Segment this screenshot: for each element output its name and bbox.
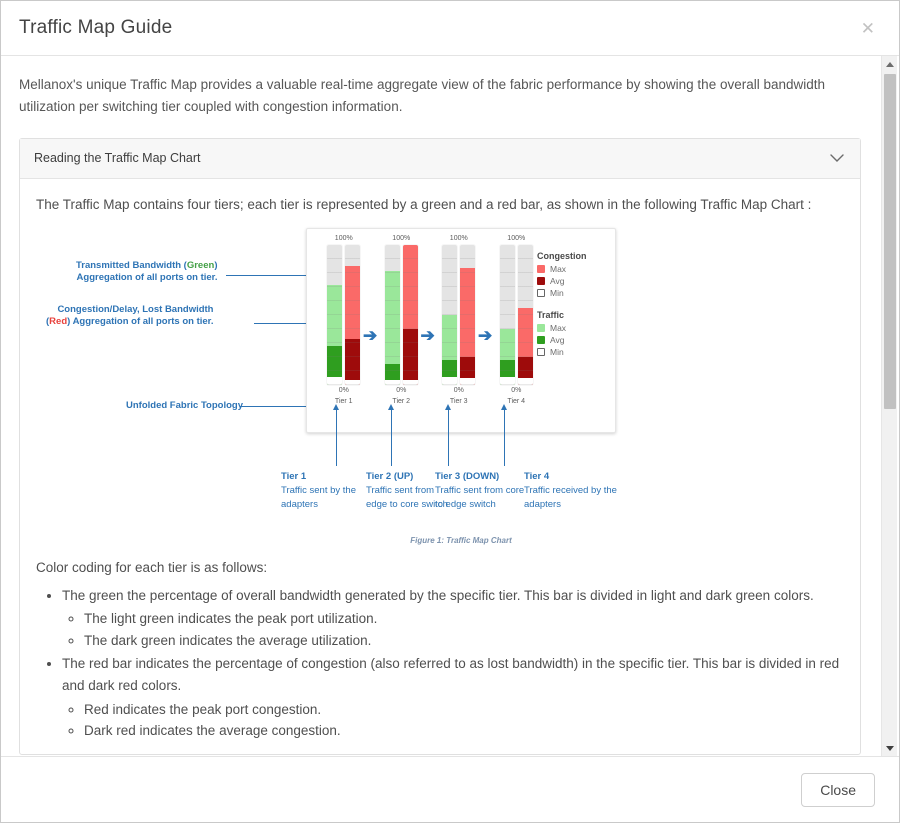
traffic-min-segment bbox=[385, 380, 400, 386]
scroll-down-arrow-icon[interactable] bbox=[882, 740, 898, 756]
chart-tiers: 100%0%Tier 1➔100%0%Tier 2➔100%0%Tier 3➔1… bbox=[315, 235, 545, 428]
traffic-map-chart: 100%0%Tier 1➔100%0%Tier 2➔100%0%Tier 3➔1… bbox=[306, 228, 616, 433]
scroll-up-arrow-icon[interactable] bbox=[882, 56, 898, 72]
legend-item-label: Avg bbox=[550, 276, 565, 286]
legend-item[interactable]: Min bbox=[537, 288, 605, 298]
chevron-down-icon[interactable] bbox=[830, 154, 844, 163]
accordion-header[interactable]: Reading the Traffic Map Chart bbox=[20, 139, 860, 179]
legend-item-label: Avg bbox=[550, 335, 565, 345]
color-coding-subitem: Dark red indicates the average congestio… bbox=[84, 720, 844, 742]
color-coding-item: The green the percentage of overall band… bbox=[62, 585, 844, 652]
congestion-avg-segment bbox=[345, 339, 360, 385]
tier-desc-title: Tier 4 bbox=[524, 470, 620, 484]
tier-category-label: Tier 4 bbox=[507, 398, 525, 407]
vertical-scrollbar[interactable] bbox=[881, 56, 897, 756]
tier-max-label: 100% bbox=[450, 235, 468, 244]
tier-bar-pair bbox=[500, 245, 533, 385]
legend-group-title: Congestion bbox=[537, 251, 605, 261]
legend-item-label: Max bbox=[550, 264, 566, 274]
close-x-icon[interactable]: ✕ bbox=[857, 18, 879, 39]
tier-desc-title: Tier 3 (DOWN) bbox=[435, 470, 527, 484]
traffic-map-figure: Transmitted Bandwidth (Green) Aggregatio… bbox=[36, 224, 844, 554]
traffic-min-segment bbox=[500, 377, 515, 385]
legend-swatch-icon bbox=[537, 348, 545, 356]
congestion-min-segment bbox=[460, 378, 475, 385]
congestion-bar[interactable] bbox=[518, 245, 533, 385]
callout-text-b: ) bbox=[214, 260, 217, 271]
dialog-header: Traffic Map Guide ✕ bbox=[1, 1, 899, 56]
traffic-bar[interactable] bbox=[442, 245, 457, 385]
tier-max-label: 100% bbox=[335, 235, 353, 244]
page-title: Traffic Map Guide bbox=[19, 17, 172, 39]
legend-group-title: Traffic bbox=[537, 310, 605, 320]
tier-desc-text: Traffic sent from core to edge switch bbox=[435, 485, 524, 510]
traffic-bar[interactable] bbox=[385, 245, 400, 385]
callout3-label: Unfolded Fabric Topology bbox=[126, 400, 243, 411]
tier-description-4: Tier 4 Traffic received by the adapters bbox=[524, 470, 620, 513]
tier-connector-arrow-4 bbox=[501, 404, 507, 410]
callout-green-word: Green bbox=[187, 260, 214, 271]
legend-swatch-icon bbox=[537, 277, 545, 285]
tier-description-3: Tier 3 (DOWN) Traffic sent from core to … bbox=[435, 470, 527, 513]
tier-desc-title: Tier 1 bbox=[281, 470, 365, 484]
legend-group-traffic: TrafficMaxAvgMin bbox=[537, 310, 605, 357]
tier-connector-2 bbox=[391, 410, 392, 466]
legend-group-congestion: CongestionMaxAvgMin bbox=[537, 251, 605, 298]
tier-min-label: 0% bbox=[511, 387, 521, 396]
scrollbar-thumb[interactable] bbox=[884, 74, 896, 409]
callout-text: Transmitted Bandwidth ( bbox=[76, 260, 187, 271]
legend-swatch-icon bbox=[537, 324, 545, 332]
traffic-map-guide-dialog: Traffic Map Guide ✕ Mellanox's unique Tr… bbox=[0, 0, 900, 823]
tier-connector-arrow-3 bbox=[445, 404, 451, 410]
accordion-title: Reading the Traffic Map Chart bbox=[34, 151, 201, 165]
callout-line2: Aggregation of all ports on tier. bbox=[77, 272, 218, 283]
dialog-body: Mellanox's unique Traffic Map provides a… bbox=[1, 56, 899, 756]
accordion-panel: Reading the Traffic Map Chart The Traffi… bbox=[19, 138, 861, 755]
callout-congestion-delay: Congestion/Delay, Lost Bandwidth (Red) A… bbox=[46, 304, 214, 330]
tier-min-label: 0% bbox=[339, 387, 349, 396]
tier-connector-4 bbox=[504, 410, 505, 466]
traffic-min-segment bbox=[442, 377, 457, 385]
tier-connector-arrow-1 bbox=[333, 404, 339, 410]
tier-connector-1 bbox=[336, 410, 337, 466]
legend-item[interactable]: Max bbox=[537, 264, 605, 274]
legend-item[interactable]: Min bbox=[537, 347, 605, 357]
callout-red-word: Red bbox=[49, 316, 67, 327]
figure-caption: Figure 1: Traffic Map Chart bbox=[306, 536, 616, 545]
congestion-min-segment bbox=[345, 380, 360, 386]
tier-bar-pair bbox=[442, 245, 475, 385]
tier-max-label: 100% bbox=[507, 235, 525, 244]
tier-desc-text: Traffic sent by the adapters bbox=[281, 485, 356, 510]
tier-min-label: 0% bbox=[396, 387, 406, 396]
congestion-avg-segment bbox=[403, 329, 418, 385]
color-coding-sublist: The light green indicates the peak port … bbox=[62, 608, 844, 651]
color-coding-subitem: The dark green indicates the average uti… bbox=[84, 630, 844, 652]
color-coding-subitem: The light green indicates the peak port … bbox=[84, 608, 844, 630]
tier-category-label: Tier 3 bbox=[450, 398, 468, 407]
chart-legend: CongestionMaxAvgMinTrafficMaxAvgMin bbox=[537, 251, 605, 359]
legend-item[interactable]: Avg bbox=[537, 335, 605, 345]
intro-paragraph: Mellanox's unique Traffic Map provides a… bbox=[19, 74, 854, 118]
dialog-footer: Close bbox=[1, 756, 899, 822]
legend-swatch-icon bbox=[537, 265, 545, 273]
legend-item-label: Max bbox=[550, 323, 566, 333]
color-coding-lead: Color coding for each tier is as follows… bbox=[36, 560, 844, 575]
congestion-min-segment bbox=[518, 378, 533, 385]
callout2-line1: Congestion/Delay, Lost Bandwidth bbox=[57, 304, 213, 315]
legend-item-label: Min bbox=[550, 288, 564, 298]
congestion-bar[interactable] bbox=[345, 245, 360, 385]
color-coding-list: The green the percentage of overall band… bbox=[36, 585, 844, 742]
traffic-min-segment bbox=[327, 377, 342, 385]
callout2-line2: ) Aggregation of all ports on tier. bbox=[67, 316, 213, 327]
tier-bar-pair bbox=[327, 245, 360, 385]
tier-connector-arrow-2 bbox=[388, 404, 394, 410]
tier-min-label: 0% bbox=[454, 387, 464, 396]
legend-swatch-icon bbox=[537, 336, 545, 344]
color-coding-subitem: Red indicates the peak port congestion. bbox=[84, 699, 844, 721]
color-coding-sublist: Red indicates the peak port congestion.D… bbox=[62, 699, 844, 742]
traffic-bar[interactable] bbox=[327, 245, 342, 385]
legend-item[interactable]: Max bbox=[537, 323, 605, 333]
tier-category-label: Tier 2 bbox=[392, 398, 410, 407]
close-button[interactable]: Close bbox=[801, 773, 875, 807]
callout-unfolded-fabric-topology: Unfolded Fabric Topology bbox=[126, 400, 243, 413]
tier-description-1: Tier 1 Traffic sent by the adapters bbox=[281, 470, 365, 513]
legend-item-label: Min bbox=[550, 347, 564, 357]
color-coding-item: The red bar indicates the percentage of … bbox=[62, 653, 844, 741]
traffic-bar[interactable] bbox=[500, 245, 515, 385]
legend-swatch-icon bbox=[537, 289, 545, 297]
panel-lead-text: The Traffic Map contains four tiers; eac… bbox=[36, 195, 844, 216]
legend-item[interactable]: Avg bbox=[537, 276, 605, 286]
accordion-content: The Traffic Map contains four tiers; eac… bbox=[20, 179, 860, 754]
tier-desc-text: Traffic received by the adapters bbox=[524, 485, 617, 510]
color-coding-item-text: The red bar indicates the percentage of … bbox=[62, 656, 839, 693]
tier-bar-pair bbox=[385, 245, 418, 385]
color-coding-item-text: The green the percentage of overall band… bbox=[62, 588, 814, 603]
tier-connector-3 bbox=[448, 410, 449, 466]
tier-max-label: 100% bbox=[392, 235, 410, 244]
congestion-bar[interactable] bbox=[403, 245, 418, 385]
congestion-bar[interactable] bbox=[460, 245, 475, 385]
callout-transmitted-bandwidth: Transmitted Bandwidth (Green) Aggregatio… bbox=[76, 260, 217, 286]
congestion-min-segment bbox=[403, 380, 418, 386]
